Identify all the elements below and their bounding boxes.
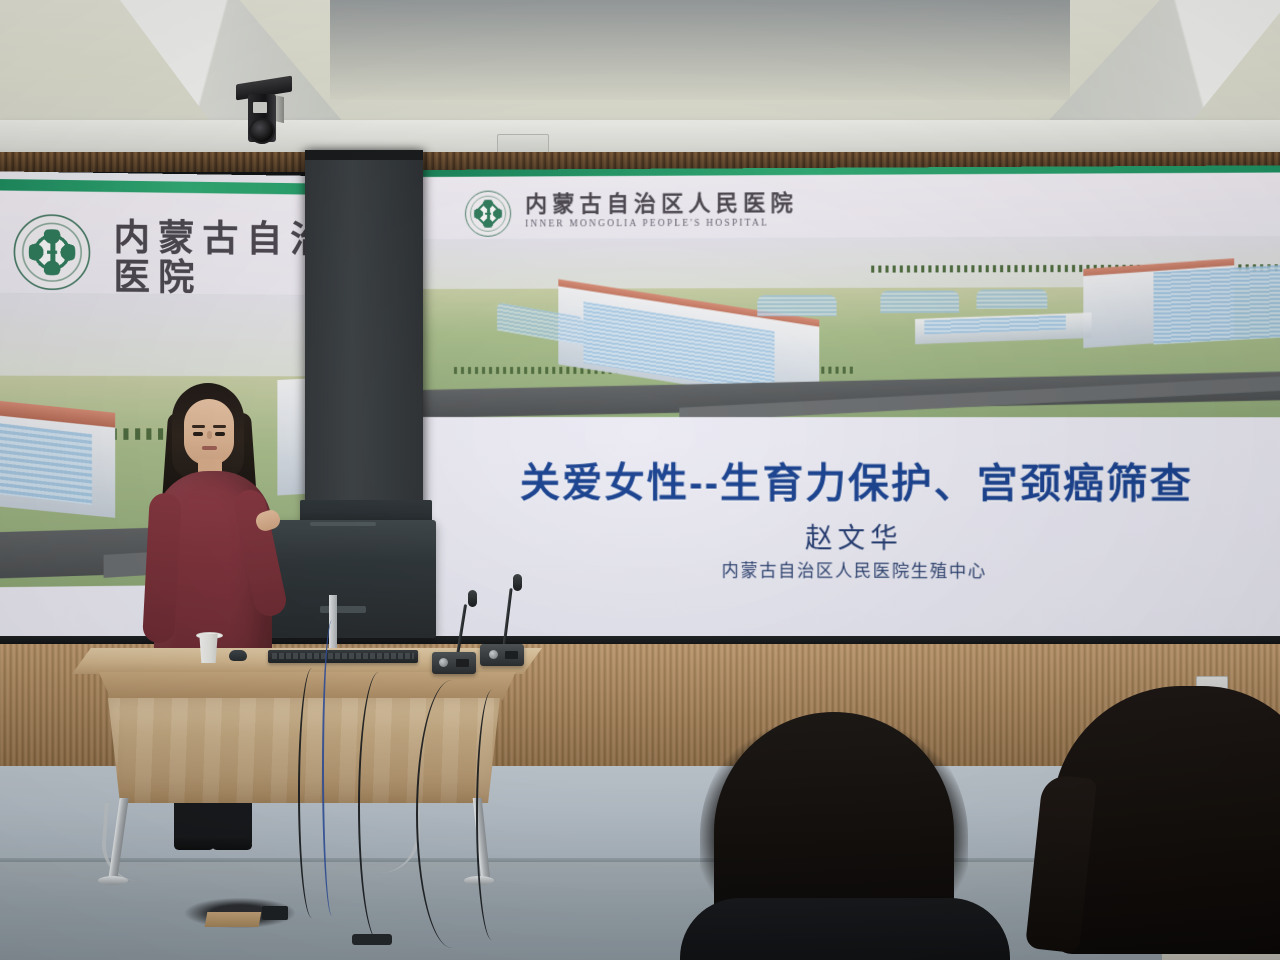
main-slide-content: 内蒙古自治区人民医院 INNER MONGOLIA PEOPLE'S HOSPI… bbox=[420, 165, 1280, 644]
slide-affiliation: 内蒙古自治区人民医院生殖中心 bbox=[420, 555, 1280, 584]
floor-adapter bbox=[262, 906, 288, 920]
hospital-name-cn-main: 内蒙古自治区人民医院 bbox=[525, 191, 798, 217]
keyboard[interactable] bbox=[268, 650, 418, 663]
mic-base-right[interactable] bbox=[480, 644, 524, 666]
ceiling-beam-left bbox=[120, 0, 350, 130]
audience-member-front-left bbox=[700, 702, 968, 960]
cable-2 bbox=[358, 672, 400, 942]
hospital-name-cn: 内蒙古自治区人民医院 bbox=[114, 218, 318, 300]
hospital-name-en-main: INNER MONGOLIA PEOPLE'S HOSPITAL bbox=[525, 219, 798, 230]
main-projection-screen[interactable]: 内蒙古自治区人民医院 INNER MONGOLIA PEOPLE'S HOSPI… bbox=[420, 165, 1280, 644]
camera-lens-icon bbox=[249, 118, 275, 144]
audience-member-front-right bbox=[1022, 686, 1280, 960]
cable-4 bbox=[476, 690, 508, 940]
floor-connector bbox=[352, 934, 392, 945]
rendering-building-a-glass bbox=[0, 422, 93, 504]
rendering-canopy-mid-a bbox=[758, 295, 837, 317]
audience-1-shoulders bbox=[680, 898, 1010, 960]
presenter-nose bbox=[207, 431, 212, 439]
floor-wood-block bbox=[205, 912, 262, 927]
mouse[interactable] bbox=[229, 650, 247, 661]
slide-presenter-name: 赵文华 bbox=[420, 515, 1280, 557]
paper-cup[interactable] bbox=[198, 634, 219, 663]
monitor-notch bbox=[310, 522, 376, 526]
rendering-canopy-mid-b bbox=[880, 291, 959, 313]
slide-header: 内蒙古自治区人民医院 INNER MONGOLIA PEOPLE'S HOSPI… bbox=[0, 190, 318, 297]
hospital-campus-rendering-main bbox=[420, 236, 1280, 418]
slide-header-main: 内蒙古自治区人民医院 INNER MONGOLIA PEOPLE'S HOSPI… bbox=[420, 172, 1280, 239]
desk-foot-left bbox=[98, 876, 128, 885]
cable-blue bbox=[322, 620, 342, 916]
monitor-hinge bbox=[320, 606, 366, 613]
camera-label bbox=[253, 102, 267, 113]
ceiling-recess bbox=[330, 0, 1070, 100]
lecture-hall-scene: 内蒙古自治区人民医院 INNER MONGOLIA PEOPLE'S HOSPI… bbox=[0, 0, 1280, 960]
mic-base-left[interactable] bbox=[432, 652, 476, 674]
ceiling-ptz-camera-icon bbox=[236, 80, 292, 152]
slide-title: 关爱女性--生育力保护、宫颈癌筛查 bbox=[420, 450, 1280, 510]
mic-head-left bbox=[468, 590, 477, 607]
ceiling-beam-right bbox=[1040, 0, 1280, 130]
hospital-emblem-icon-main bbox=[465, 191, 511, 237]
rendering-canopy-mid-c bbox=[977, 289, 1048, 309]
rendering-sky bbox=[0, 293, 318, 382]
presenter-mouth bbox=[202, 446, 217, 450]
rendering-tower-glass bbox=[1154, 265, 1280, 345]
center-pillar-cap bbox=[305, 150, 423, 160]
hospital-name-block-main: 内蒙古自治区人民医院 INNER MONGOLIA PEOPLE'S HOSPI… bbox=[525, 191, 798, 230]
hospital-emblem-icon bbox=[14, 214, 91, 290]
mic-head-right bbox=[513, 574, 522, 591]
